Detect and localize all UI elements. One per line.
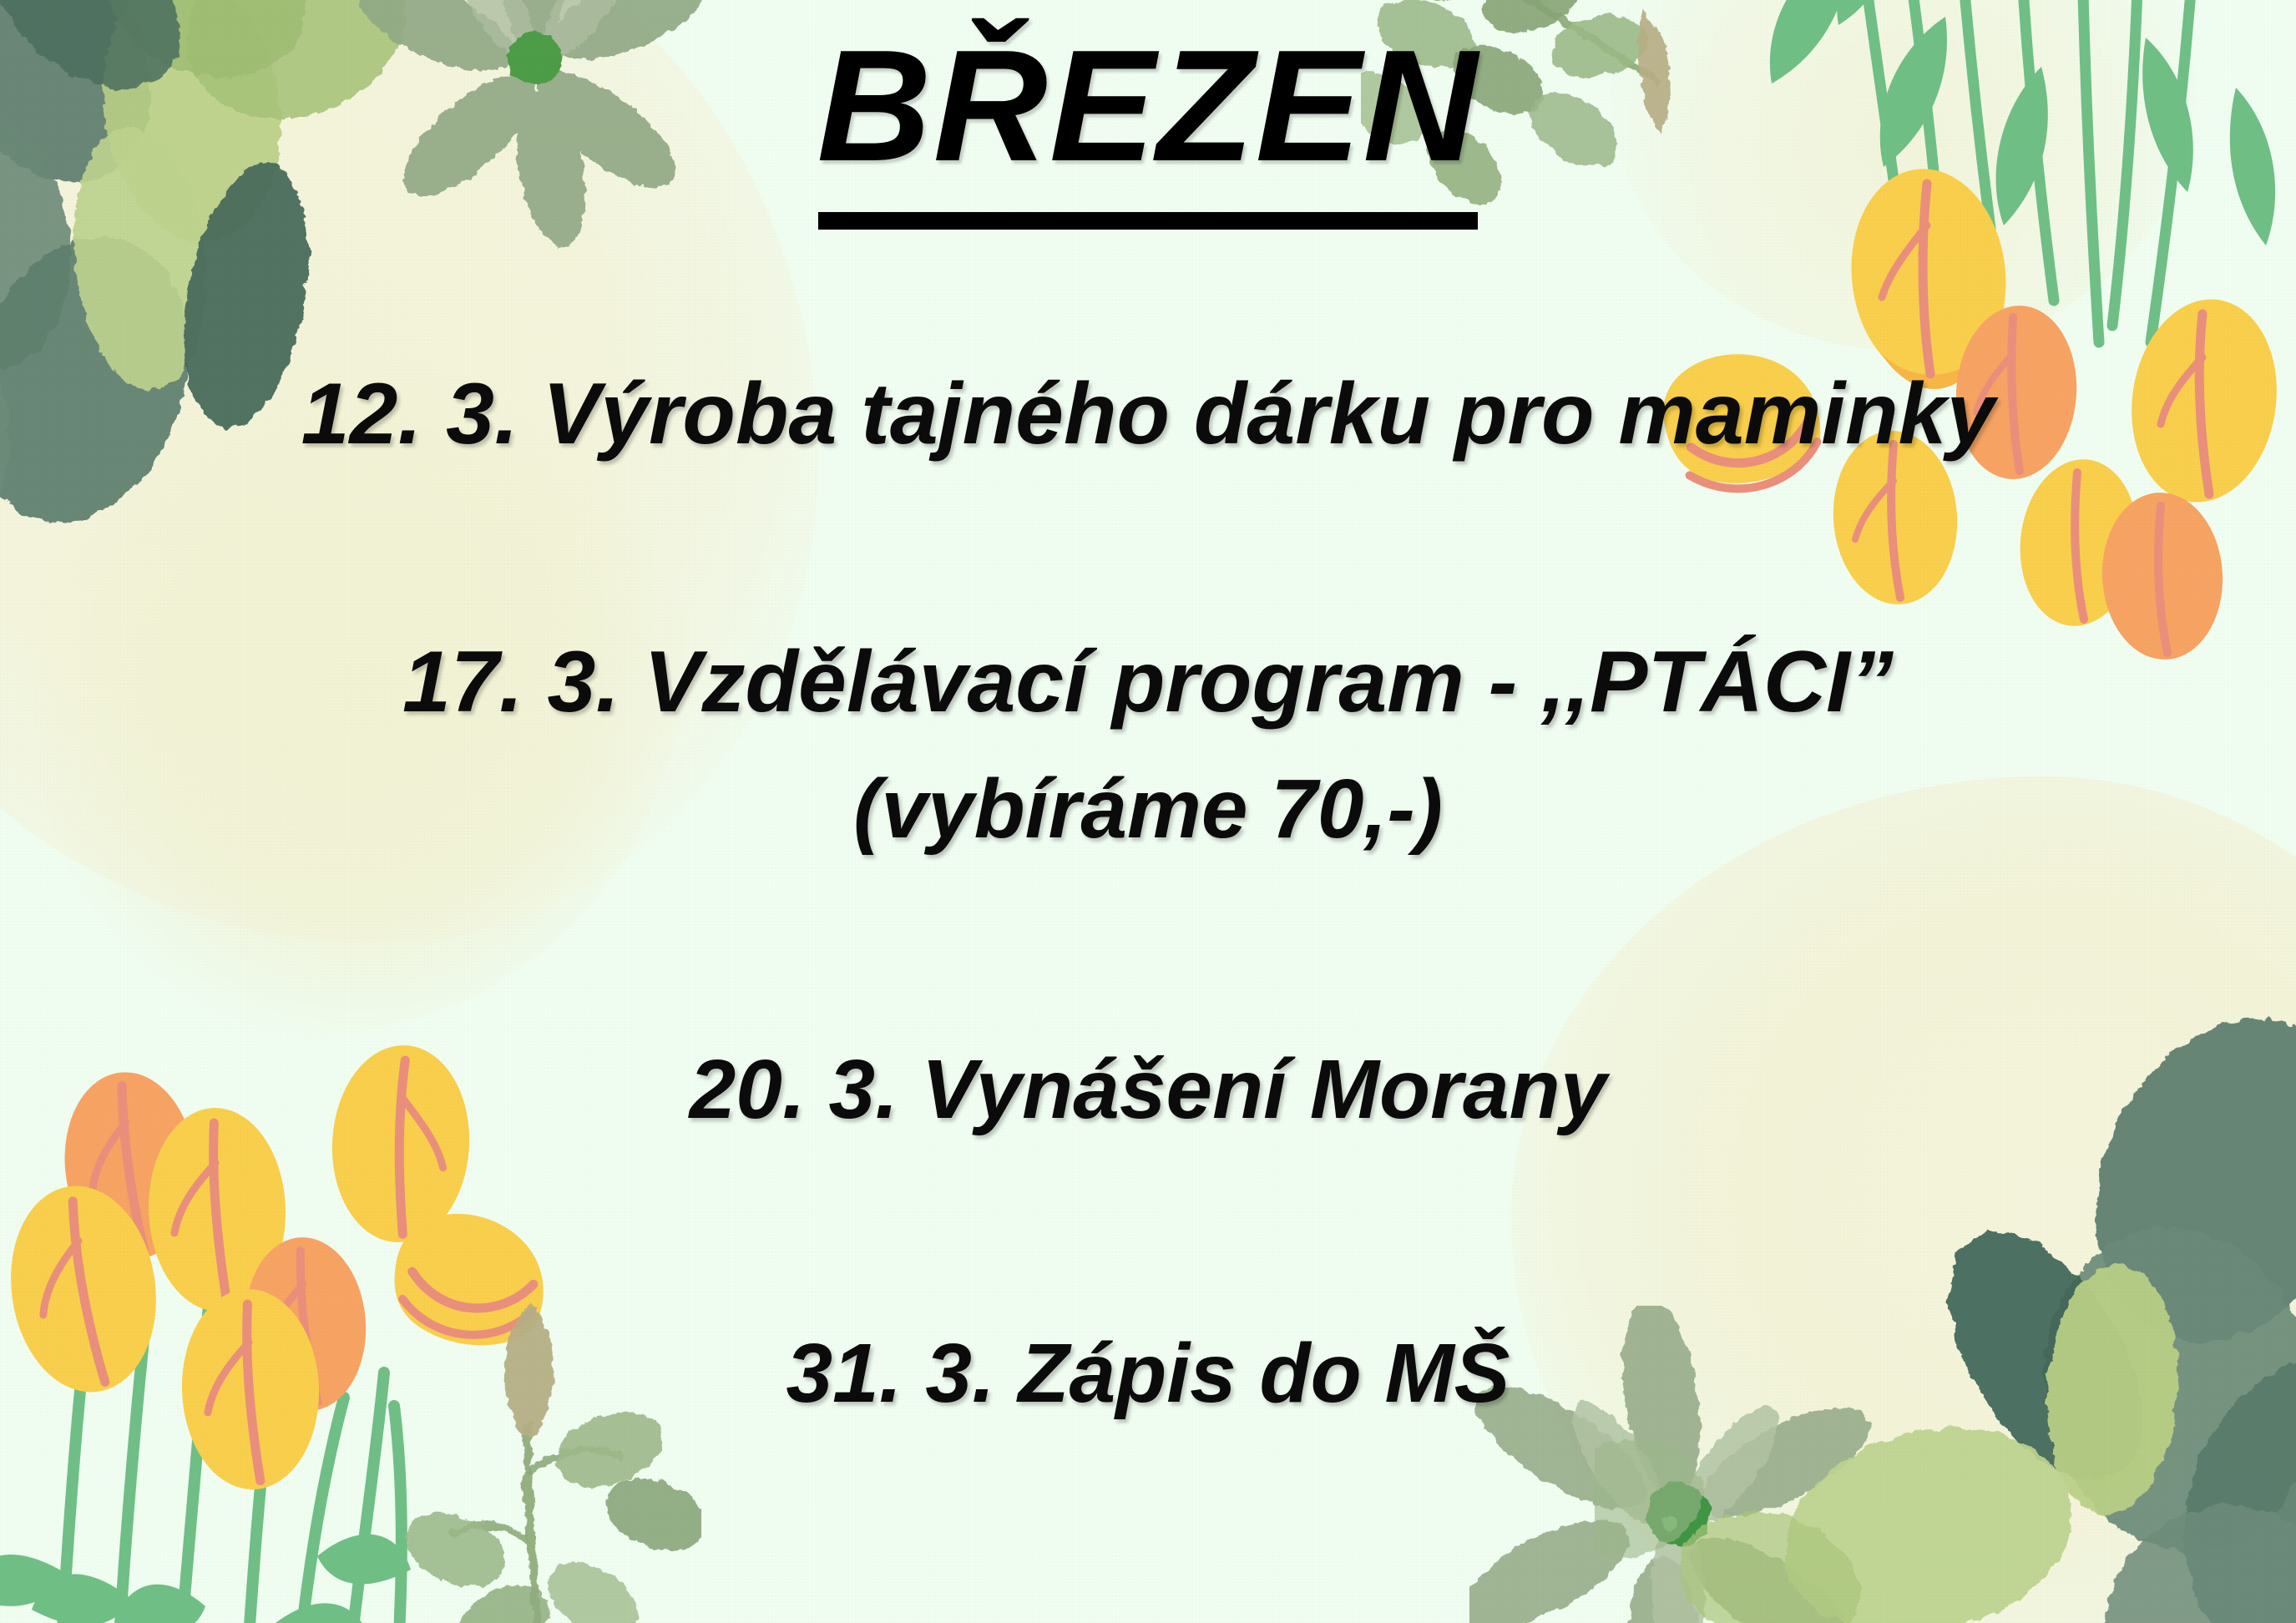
event-line-1: 12. 3. Výroba tajného dárku pro maminky <box>0 365 2296 464</box>
event-line-2-note: (vybíráme 70,-) <box>0 761 2296 857</box>
page-title: BŘEZEN <box>0 23 2296 190</box>
poster-canvas: BŘEZEN 12. 3. Výroba tajného dárku pro m… <box>0 0 2296 1623</box>
event-line-3: 20. 3. Vynášení Morany <box>0 1042 2296 1138</box>
event-line-2: 17. 3. Vzdělávací program - ,,PTÁCI” <box>0 633 2296 732</box>
title-underline <box>818 212 1478 230</box>
poster-content: BŘEZEN 12. 3. Výroba tajného dárku pro m… <box>0 0 2296 1623</box>
event-line-4: 31. 3. Zápis do MŠ <box>0 1326 2296 1422</box>
